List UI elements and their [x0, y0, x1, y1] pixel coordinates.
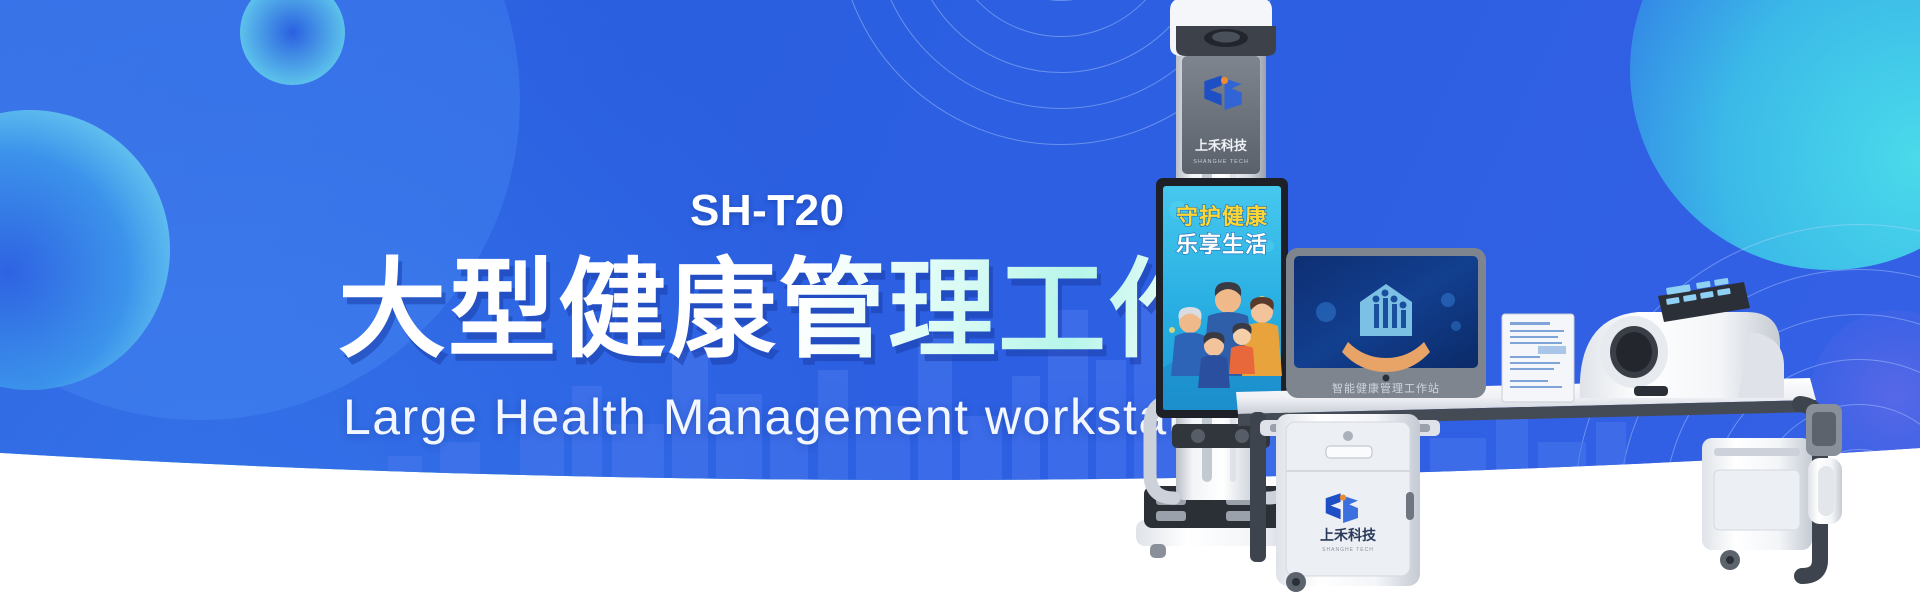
all-in-one-monitor[interactable]: 智能健康管理工作站 [1286, 248, 1486, 398]
ad-headline-line1: 守护健康 [1176, 204, 1268, 229]
ad-headline-line2: 乐享生活 [1176, 232, 1268, 257]
kiosk-brand-logo-text: 上禾科技 [1195, 138, 1248, 153]
kiosk-brand-logo-sub: SHANGHE TECH [1193, 159, 1249, 165]
cabinet-brand-logo-text: 上禾科技 [1320, 527, 1377, 543]
model-code: SH-T20 [690, 186, 845, 236]
monitor-caption: 智能健康管理工作站 [1332, 381, 1440, 395]
report-document-holder [1502, 314, 1574, 402]
product-photo: 上禾科技 SHANGHE TECH 守护健康 乐享生活 [1110, 0, 1890, 600]
cabinet-brand-logo-sub: SHANGHE TECH [1322, 547, 1374, 553]
storage-cabinet[interactable]: 上禾科技 SHANGHE TECH [1276, 414, 1420, 592]
advertising-display[interactable]: 守护健康 乐享生活 [1156, 178, 1288, 418]
blood-pressure-monitor[interactable] [1580, 278, 1784, 398]
product-banner: SH-T20 大型健康管理工作站 Large Health Management… [0, 0, 1920, 600]
